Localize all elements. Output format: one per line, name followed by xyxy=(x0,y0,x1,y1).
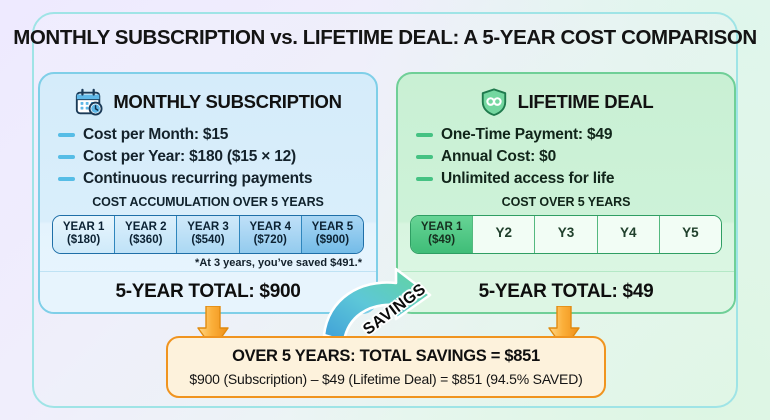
table-cell-year3: Y3 xyxy=(535,216,597,253)
year-amount: ($180) xyxy=(53,234,114,247)
lifetime-title: LIFETIME DEAL xyxy=(518,91,654,113)
year-amount: ($540) xyxy=(177,234,238,247)
dash-icon xyxy=(58,155,75,159)
subscription-footnote: *At 3 years, you’ve saved $491.* xyxy=(40,257,362,269)
year-label: YEAR 1 xyxy=(53,221,114,234)
table-cell-year2: Y2 xyxy=(473,216,535,253)
year-label: YEAR 4 xyxy=(240,221,301,234)
table-cell-year5: YEAR 5 ($900) xyxy=(302,216,363,253)
table-cell-year1: YEAR 1 ($180) xyxy=(53,216,115,253)
list-item: Cost per Month: $15 xyxy=(58,126,376,144)
dash-icon xyxy=(416,177,433,181)
table-cell-year4: YEAR 4 ($720) xyxy=(240,216,302,253)
subscription-bullet-list: Cost per Month: $15 Cost per Year: $180 … xyxy=(58,126,376,188)
year-label: YEAR 1 xyxy=(411,221,472,234)
subscription-year-row: YEAR 1 ($180) YEAR 2 ($360) YEAR 3 ($540… xyxy=(52,215,364,254)
table-cell-year2: YEAR 2 ($360) xyxy=(115,216,177,253)
lifetime-table-heading: COST OVER 5 YEARS xyxy=(398,195,734,209)
year-amount: ($360) xyxy=(115,234,176,247)
list-item-label: Cost per Year: $180 ($15 × 12) xyxy=(83,148,296,166)
list-item-label: Cost per Month: $15 xyxy=(83,126,228,144)
subscription-title: MONTHLY SUBSCRIPTION xyxy=(113,91,341,113)
list-item-label: One-Time Payment: $49 xyxy=(441,126,612,144)
table-cell-year5: Y5 xyxy=(660,216,721,253)
lifetime-header: LIFETIME DEAL xyxy=(398,87,734,117)
table-cell-year4: Y4 xyxy=(598,216,660,253)
dash-icon xyxy=(416,155,433,159)
year-label: YEAR 5 xyxy=(302,221,363,234)
year-label: YEAR 3 xyxy=(177,221,238,234)
calendar-clock-icon xyxy=(74,87,104,117)
year-label: YEAR 2 xyxy=(115,221,176,234)
list-item: Cost per Year: $180 ($15 × 12) xyxy=(58,148,376,166)
list-item: Annual Cost: $0 xyxy=(416,148,734,166)
dash-icon xyxy=(58,133,75,137)
lifetime-year-row: YEAR 1 ($49) Y2 Y3 Y4 Y5 xyxy=(410,215,722,254)
dash-icon xyxy=(58,177,75,181)
list-item-label: Unlimited access for life xyxy=(441,170,614,188)
savings-arrow: SAVINGS xyxy=(318,265,458,345)
table-cell-year1: YEAR 1 ($49) xyxy=(411,216,473,253)
subscription-table-heading: COST ACCUMULATION OVER 5 YEARS xyxy=(40,195,376,209)
list-item-label: Continuous recurring payments xyxy=(83,170,312,188)
subscription-header: MONTHLY SUBSCRIPTION xyxy=(40,87,376,117)
year-amount: ($900) xyxy=(302,234,363,247)
page-title: MONTHLY SUBSCRIPTION vs. LIFETIME DEAL: … xyxy=(0,26,770,50)
dash-icon xyxy=(416,133,433,137)
table-cell-year3: YEAR 3 ($540) xyxy=(177,216,239,253)
savings-banner-detail: $900 (Subscription) – $49 (Lifetime Deal… xyxy=(168,371,604,387)
savings-banner: OVER 5 YEARS: TOTAL SAVINGS = $851 $900 … xyxy=(166,336,606,398)
year-amount: ($49) xyxy=(411,234,472,247)
infographic-canvas: MONTHLY SUBSCRIPTION vs. LIFETIME DEAL: … xyxy=(0,0,770,420)
lifetime-bullet-list: One-Time Payment: $49 Annual Cost: $0 Un… xyxy=(416,126,734,188)
year-amount: ($720) xyxy=(240,234,301,247)
shield-infinity-icon xyxy=(479,87,509,117)
list-item: Continuous recurring payments xyxy=(58,170,376,188)
list-item: One-Time Payment: $49 xyxy=(416,126,734,144)
savings-banner-headline: OVER 5 YEARS: TOTAL SAVINGS = $851 xyxy=(168,347,604,366)
list-item-label: Annual Cost: $0 xyxy=(441,148,556,166)
list-item: Unlimited access for life xyxy=(416,170,734,188)
